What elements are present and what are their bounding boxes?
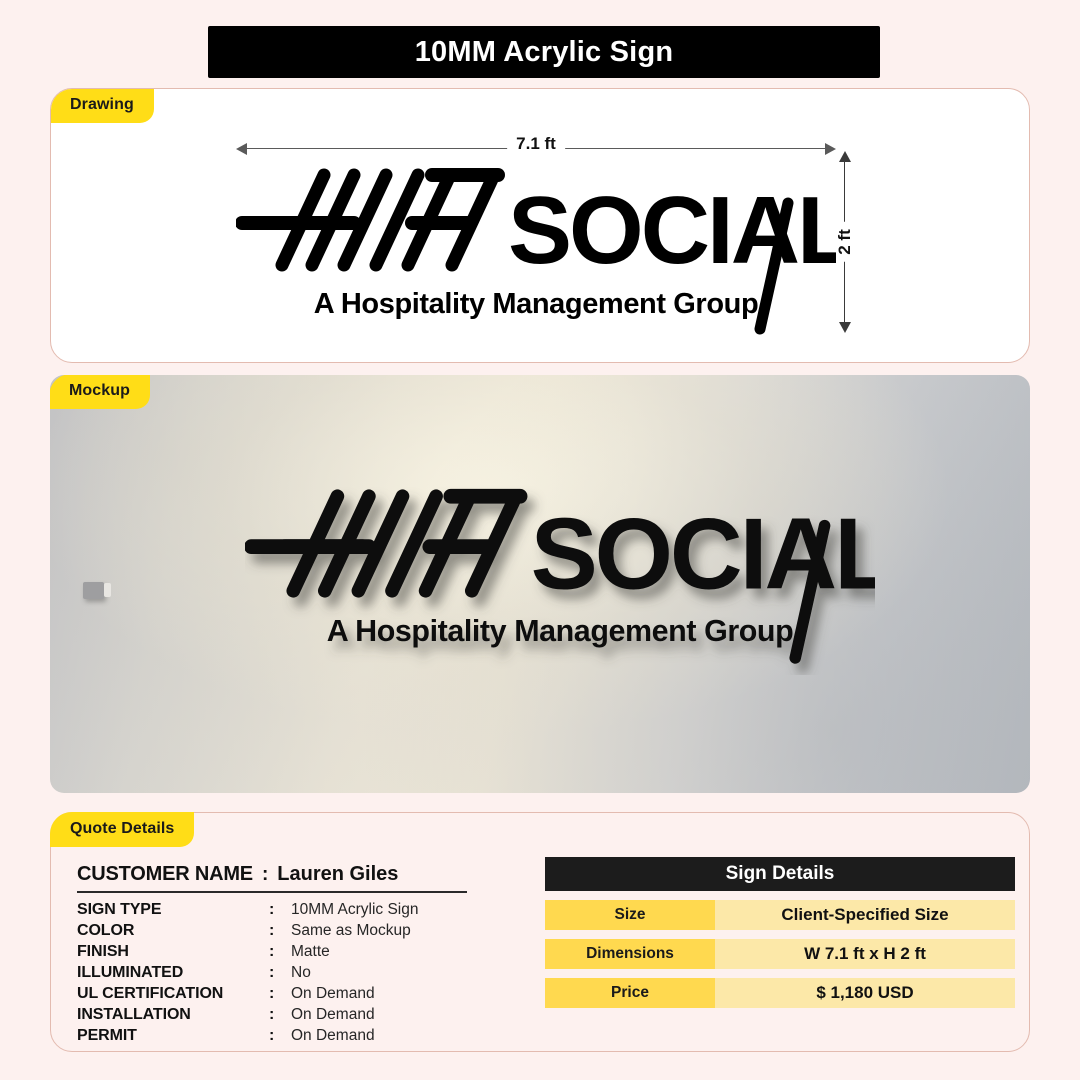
spec-colon: :	[269, 985, 291, 1003]
spec-label: PERMIT	[77, 1027, 269, 1045]
spec-label: ILLUMINATED	[77, 964, 269, 982]
spec-label: COLOR	[77, 922, 269, 940]
drawing-tab-label: Drawing	[50, 88, 154, 123]
hifi-social-logo-mockup: SOCIAL A Hospitality Management Group	[245, 475, 875, 675]
sign-artwork-drawing: SOCIAL A Hospitality Management Group	[236, 161, 836, 339]
table-cell-key: Size	[545, 900, 715, 930]
spec-value: Matte	[291, 943, 330, 961]
page-title: 10MM Acrylic Sign	[415, 36, 674, 69]
spec-value: On Demand	[291, 985, 375, 1003]
spec-row: FINISH : Matte	[77, 943, 517, 964]
quote-details-card: Quote Details CUSTOMER NAME : Lauren Gil…	[50, 812, 1030, 1052]
spec-value: No	[291, 964, 311, 982]
quote-details-tab-label: Quote Details	[50, 812, 194, 847]
table-cell-key: Price	[545, 978, 715, 1008]
sign-details-table: Sign Details Size Client-Specified Size …	[545, 857, 1015, 1008]
table-cell-value: $ 1,180 USD	[715, 978, 1015, 1008]
table-cell-value: W 7.1 ft x H 2 ft	[715, 939, 1015, 969]
quote-sheet-page: 10MM Acrylic Sign Drawing 7.1 ft 2 ft	[0, 0, 1080, 1080]
spec-label: UL CERTIFICATION	[77, 985, 269, 1003]
logo-tagline: A Hospitality Management Group	[314, 288, 759, 320]
spec-row: PERMIT : On Demand	[77, 1027, 517, 1048]
spec-colon: :	[269, 964, 291, 982]
spec-row: COLOR : Same as Mockup	[77, 922, 517, 943]
spec-row: ILLUMINATED : No	[77, 964, 517, 985]
table-cell-value: Client-Specified Size	[715, 900, 1015, 930]
spec-label: INSTALLATION	[77, 1006, 269, 1024]
spec-colon: :	[269, 1006, 291, 1024]
spec-label: FINISH	[77, 943, 269, 961]
wall-fixture-body	[83, 582, 104, 599]
spec-value: 10MM Acrylic Sign	[291, 901, 418, 919]
customer-name-row: CUSTOMER NAME : Lauren Giles	[77, 863, 467, 893]
spec-row: INSTALLATION : On Demand	[77, 1006, 517, 1027]
spec-row: SIGN TYPE : 10MM Acrylic Sign	[77, 901, 517, 922]
table-cell-key: Dimensions	[545, 939, 715, 969]
table-row: Dimensions W 7.1 ft x H 2 ft	[545, 939, 1015, 969]
spec-label: SIGN TYPE	[77, 901, 269, 919]
width-dimension-line: 7.1 ft	[236, 137, 836, 159]
drawing-canvas: 7.1 ft 2 ft	[51, 89, 1029, 362]
spec-list: SIGN TYPE : 10MM Acrylic Sign COLOR : Sa…	[77, 901, 517, 1048]
drawing-card: Drawing 7.1 ft 2 ft	[50, 88, 1030, 363]
table-row: Price $ 1,180 USD	[545, 978, 1015, 1008]
page-title-banner: 10MM Acrylic Sign	[208, 26, 880, 78]
sign-details-header: Sign Details	[545, 857, 1015, 891]
customer-name-label: CUSTOMER NAME	[77, 863, 253, 886]
customer-name-value: Lauren Giles	[277, 863, 398, 886]
spec-value: Same as Mockup	[291, 922, 411, 940]
spec-colon: :	[269, 922, 291, 940]
wall-fixture-tip	[104, 583, 111, 597]
mockup-card: Mockup	[50, 375, 1030, 793]
customer-name-colon: :	[262, 864, 268, 886]
spec-colon: :	[269, 901, 291, 919]
spec-value: On Demand	[291, 1027, 375, 1045]
wall-fixture-icon	[83, 582, 113, 601]
spec-row: UL CERTIFICATION : On Demand	[77, 985, 517, 1006]
width-dimension-label: 7.1 ft	[507, 134, 565, 154]
height-dimension-line: 2 ft	[833, 151, 857, 333]
spec-colon: :	[269, 943, 291, 961]
spec-colon: :	[269, 1027, 291, 1045]
sign-artwork-mockup: SOCIAL A Hospitality Management Group	[245, 475, 875, 675]
spec-value: On Demand	[291, 1006, 375, 1024]
mockup-tab-label: Mockup	[50, 375, 150, 409]
table-row: Size Client-Specified Size	[545, 900, 1015, 930]
hifi-social-logo: SOCIAL A Hospitality Management Group	[236, 161, 836, 339]
arrow-down-icon	[839, 322, 851, 333]
logo-tagline-mockup: A Hospitality Management Group	[327, 614, 794, 648]
